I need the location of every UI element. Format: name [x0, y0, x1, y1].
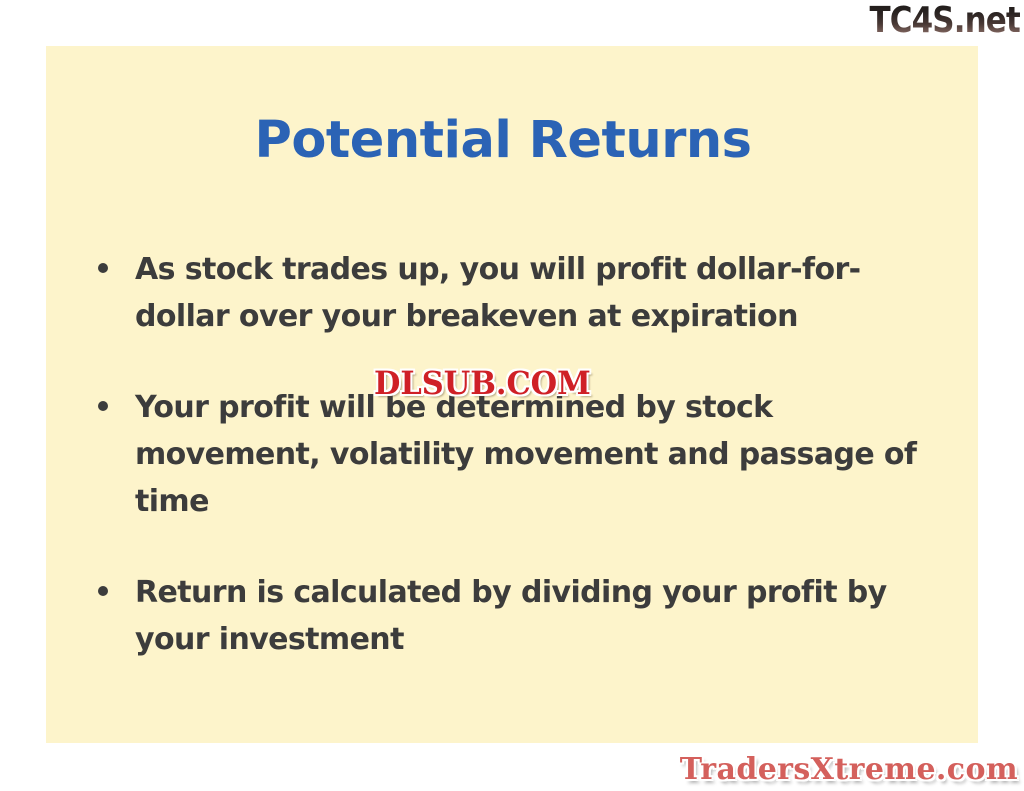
- list-item: As stock trades up, you will profit doll…: [98, 246, 978, 340]
- page-title: Potential Returns: [46, 112, 978, 170]
- slide-stage: TC4S.net Potential Returns As stock trad…: [0, 0, 1024, 791]
- bullet-dot-icon: [98, 263, 108, 273]
- bullet-list: As stock trades up, you will profit doll…: [98, 246, 978, 663]
- list-item-text: Return is calculated by dividing your pr…: [135, 569, 895, 663]
- bullet-dot-icon: [98, 401, 108, 411]
- bullet-dot-icon: [98, 586, 108, 596]
- brand-logo-tradersxtreme: TradersXtreme.com: [680, 753, 1018, 787]
- site-logo-tc4s: TC4S.net: [870, 1, 1020, 41]
- slide-content-panel: Potential Returns As stock trades up, yo…: [46, 46, 978, 743]
- list-item: Return is calculated by dividing your pr…: [98, 569, 978, 663]
- list-item-text: Your profit will be determined by stock …: [135, 384, 925, 525]
- list-item-text: As stock trades up, you will profit doll…: [135, 246, 935, 340]
- list-item: Your profit will be determined by stock …: [98, 384, 978, 525]
